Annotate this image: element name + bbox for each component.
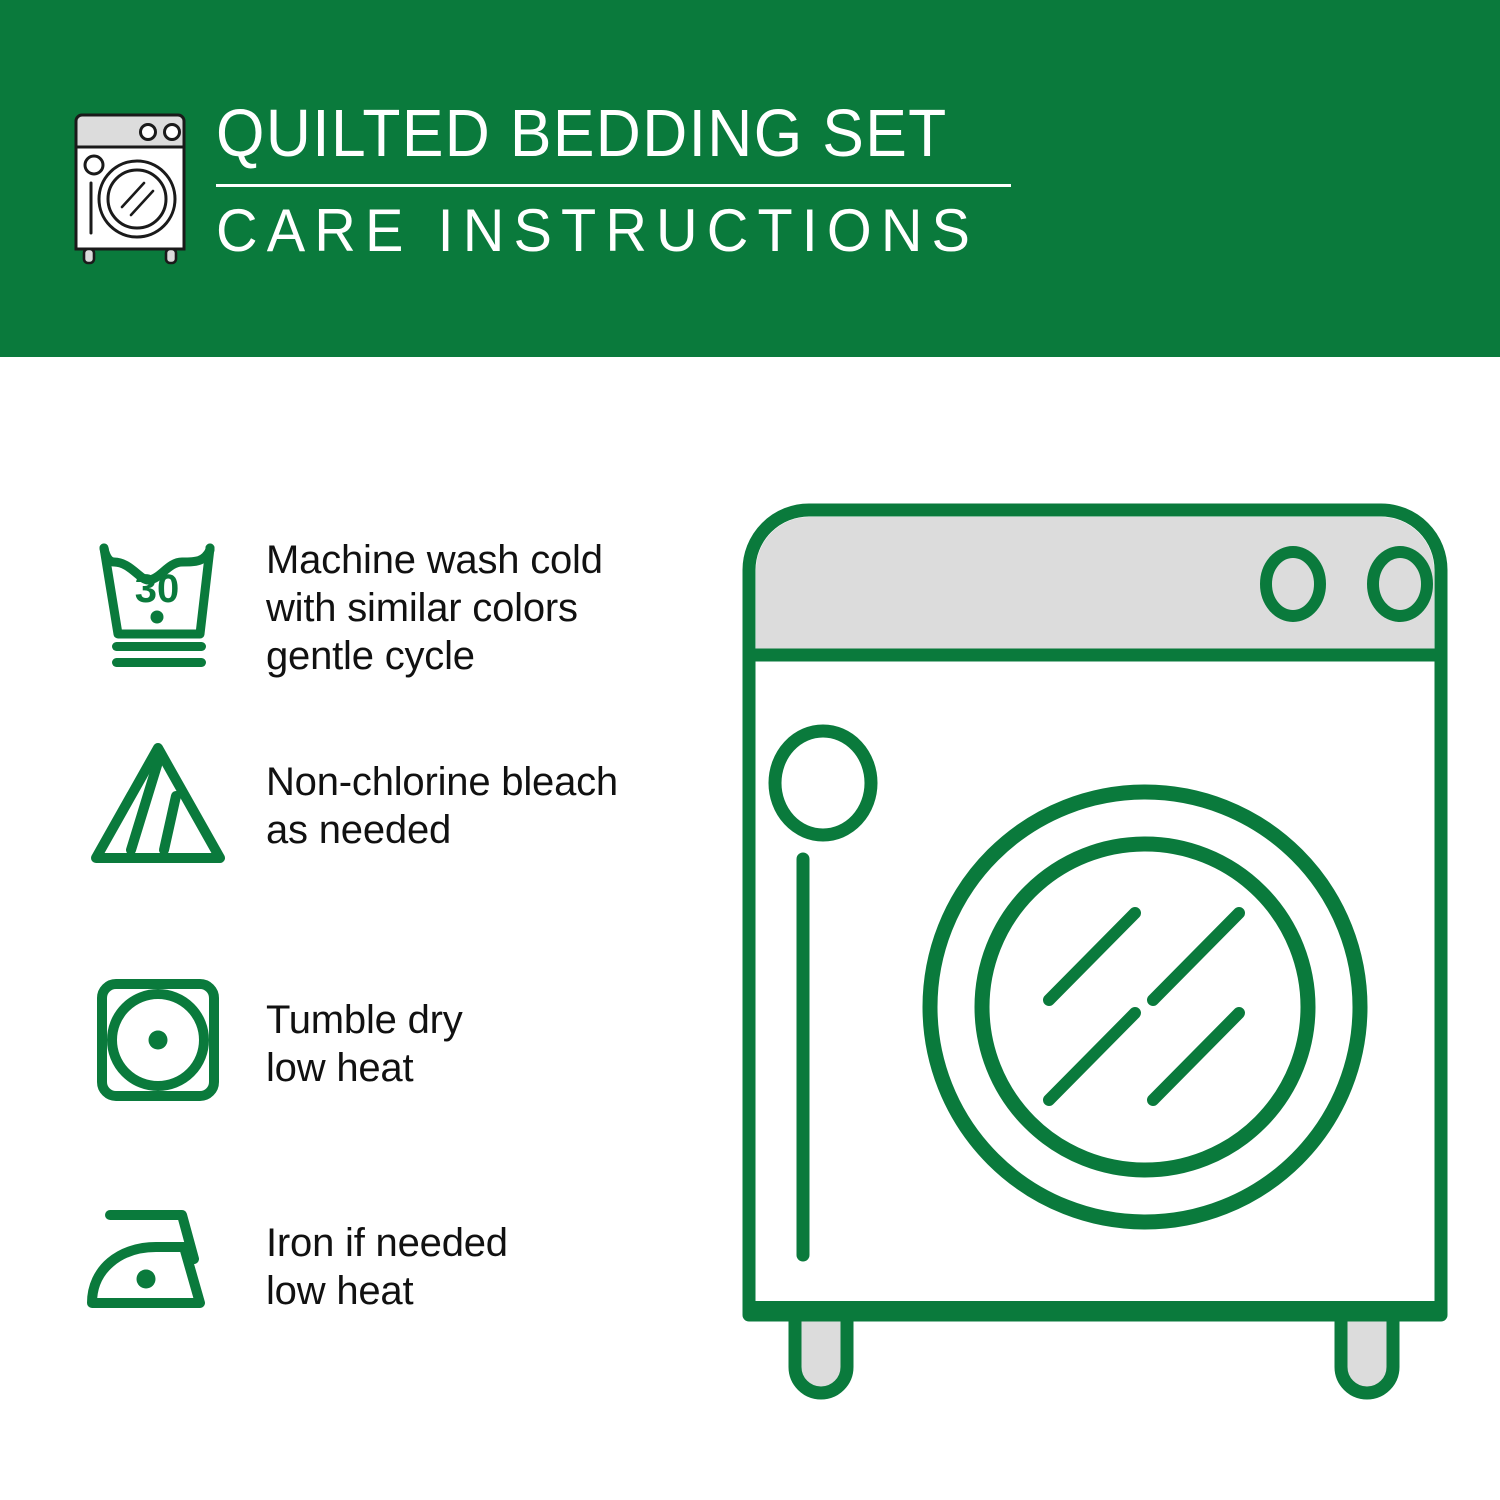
care-text-line: low heat [266,1267,698,1315]
page-subtitle: CARE INSTRUCTIONS [216,197,994,265]
care-text-tumble-dry: Tumble dry low heat [238,970,698,1092]
care-row-bleach: Non-chlorine bleach as needed [78,732,698,872]
leg-left [795,1315,847,1393]
care-text-bleach: Non-chlorine bleach as needed [238,732,698,854]
care-text-line: Iron if needed [266,1219,698,1267]
washing-machine-icon [62,107,198,267]
care-instruction-list: 30 Machine wash cold with similar colors… [0,357,720,1500]
tumble-dry-low-heat-icon [78,970,238,1110]
dispenser-circle [775,731,871,835]
care-row-tumble-dry: Tumble dry low heat [78,970,698,1110]
care-row-iron: Iron if needed low heat [78,1197,698,1327]
care-text-iron: Iron if needed low heat [238,1197,698,1315]
page-title: QUILTED BEDDING SET [216,96,969,172]
control-panel [756,517,1434,652]
drum-inner-ring [982,844,1308,1170]
front-load-washing-machine-illustration [735,495,1455,1415]
care-text-line: with similar colors [266,584,698,632]
knob-left [1266,552,1320,616]
care-text-line: Machine wash cold [266,536,698,584]
care-row-machine-wash: 30 Machine wash cold with similar colors… [78,522,698,680]
care-text-line: low heat [266,1044,698,1092]
knob-right [1373,552,1427,616]
care-text-line: gentle cycle [266,632,698,680]
triangle-non-chlorine-bleach-icon [78,732,238,872]
header-text-block: QUILTED BEDDING SET CARE INSTRUCTIONS [216,96,1026,265]
iron-low-heat-icon [78,1197,238,1327]
care-text-line: Tumble dry [266,996,698,1044]
leg-right [1341,1315,1393,1393]
care-text-machine-wash: Machine wash cold with similar colors ge… [238,522,698,680]
title-divider [216,184,1011,187]
care-instructions-page: QUILTED BEDDING SET CARE INSTRUCTIONS 30 [0,0,1500,1500]
care-text-line: Non-chlorine bleach [266,758,698,806]
header-banner: QUILTED BEDDING SET CARE INSTRUCTIONS [0,0,1500,357]
wash-tub-30-gentle-icon: 30 [78,522,238,672]
wash-temp-value: 30 [135,567,180,611]
care-text-line: as needed [266,806,698,854]
